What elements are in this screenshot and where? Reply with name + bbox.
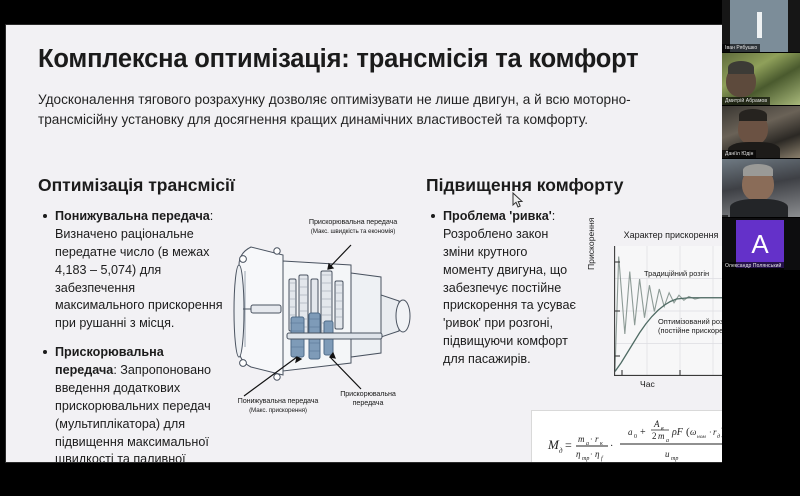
presentation-slide: Комплексна оптимізація: трансмісія та ко… <box>6 25 722 462</box>
gearbox-label-bottom-left: Понижувальна передача (Макс. прискорення… <box>213 396 343 415</box>
mouse-cursor <box>512 192 524 209</box>
participant-name: Іван Рябушко <box>722 44 760 52</box>
acceleration-chart: Характер прискорення Прискорення Час <box>596 230 722 395</box>
participant-name: Дмитрій Абрамов <box>722 97 770 105</box>
chart-annotation-traditional: Традиційний розгін <box>644 270 709 279</box>
list-item: Понижувальна передача: Визначено раціона… <box>42 208 228 333</box>
list-item: Проблема 'ривка': Розроблено закон зміни… <box>430 208 578 369</box>
svg-text:·: · <box>590 435 593 444</box>
chart-plot-area <box>614 246 722 376</box>
bullet-text: : Запропоновано введення додаткових прис… <box>55 363 211 462</box>
svg-text:r: r <box>595 434 599 444</box>
participant-name: Даніїл Юдін <box>722 150 756 158</box>
svg-text:ном: ном <box>697 434 706 440</box>
svg-text:д: д <box>717 433 720 440</box>
chart-y-axis-label: Прискорення <box>586 218 596 270</box>
svg-text:ω: ω <box>690 427 696 437</box>
svg-text:·: · <box>709 428 712 437</box>
svg-text:a: a <box>628 427 633 437</box>
list-item: Прискорювальна передача: Запропоновано в… <box>42 344 228 462</box>
participant-tile[interactable]: Іван Рябушко <box>722 0 800 52</box>
gearbox-label-top-text: Прискорювальна передача <box>309 217 397 226</box>
left-column-heading: Оптимізація трансмісії <box>38 175 235 196</box>
svg-text:0: 0 <box>634 434 637 440</box>
svg-text:тр: тр <box>582 456 589 462</box>
right-column-heading: Підвищення комфорту <box>426 175 623 196</box>
person-hair <box>728 61 754 74</box>
gearbox-label-bottom-left-text: Понижувальна передача <box>238 396 319 405</box>
tile-light-strip <box>757 12 762 38</box>
gearbox-label-bottom-right-text: Прискорювальна передача <box>340 389 396 407</box>
participant-tile[interactable] <box>722 159 800 217</box>
svg-text:+: + <box>640 427 646 438</box>
svg-text:а: а <box>666 438 669 444</box>
svg-text:=: = <box>565 438 572 452</box>
svg-text:тр: тр <box>671 456 678 462</box>
chart-annotation-optimized-line2: (постійне прискорення) <box>658 326 722 335</box>
svg-text:m: m <box>578 434 585 444</box>
tile-backdrop-right <box>788 0 800 52</box>
participant-name: Олександр Полянський <box>722 262 784 270</box>
chart-title: Характер прискорення <box>596 230 722 240</box>
bullet-lead: Понижувальна передача <box>55 209 210 223</box>
svg-text:η: η <box>595 449 600 459</box>
formula-drawing: M д = m а · r к η тр · η f · a 0 <box>532 411 722 462</box>
svg-text:u: u <box>665 449 670 459</box>
person-torso <box>730 199 788 217</box>
svg-text:д: д <box>559 447 563 455</box>
gearbox-label-bottom-right: Прискорювальна передача <box>337 389 399 407</box>
chart-annotation-optimized: Оптимізований розгін (постійне прискорен… <box>658 318 722 336</box>
bullet-text: : Визначено раціональне передатне число … <box>55 209 223 330</box>
svg-text:f: f <box>601 455 604 462</box>
participant-name <box>722 215 728 217</box>
avatar: A <box>736 220 784 268</box>
person-hair <box>739 109 767 121</box>
gearbox-label-top-sub: (Макс. швидкість та економія) <box>311 228 395 235</box>
chart-x-axis-label: Час <box>640 379 655 389</box>
svg-text:2: 2 <box>652 431 657 441</box>
video-participant-rail: Іван Рябушко Дмитрій Абрамов Даніїл Юдін… <box>722 0 800 496</box>
svg-text:ρF: ρF <box>671 427 684 438</box>
gearbox-diagram: Прискорювальна передача (Макс. швидкість… <box>231 221 426 431</box>
right-column-bullets: Проблема 'ривка': Розроблено закон зміни… <box>430 208 578 380</box>
gearbox-label-bottom-left-sub: (Макс. прискорення) <box>249 407 307 414</box>
person-hair <box>743 164 773 176</box>
svg-text:·: · <box>590 450 593 459</box>
page-title: Комплексна оптимізація: трансмісія та ко… <box>38 45 638 74</box>
svg-text:η: η <box>576 449 581 459</box>
formula-box: M д = m а · r к η тр · η f · a 0 <box>531 410 722 462</box>
gearbox-label-top: Прискорювальна передача (Макс. швидкість… <box>279 217 427 236</box>
bullet-lead: Проблема 'ривка' <box>443 209 552 223</box>
participant-tile[interactable]: A Олександр Полянський <box>722 218 800 270</box>
slide-subtitle: Удосконалення тягового розрахунку дозвол… <box>38 90 710 131</box>
participant-tile[interactable]: Даніїл Юдін <box>722 106 800 158</box>
bullet-text: : Розроблено закон зміни крутного момент… <box>443 209 576 366</box>
svg-text:m: m <box>658 431 665 441</box>
participant-tile[interactable]: Дмитрій Абрамов <box>722 53 800 105</box>
svg-text:·: · <box>610 441 613 452</box>
svg-text:A: A <box>653 419 660 429</box>
screen: Комплексна оптимізація: трансмісія та ко… <box>0 0 800 496</box>
left-column-bullets: Понижувальна передача: Визначено раціона… <box>42 208 228 462</box>
chart-annotation-optimized-line1: Оптимізований розгін <box>658 317 722 326</box>
